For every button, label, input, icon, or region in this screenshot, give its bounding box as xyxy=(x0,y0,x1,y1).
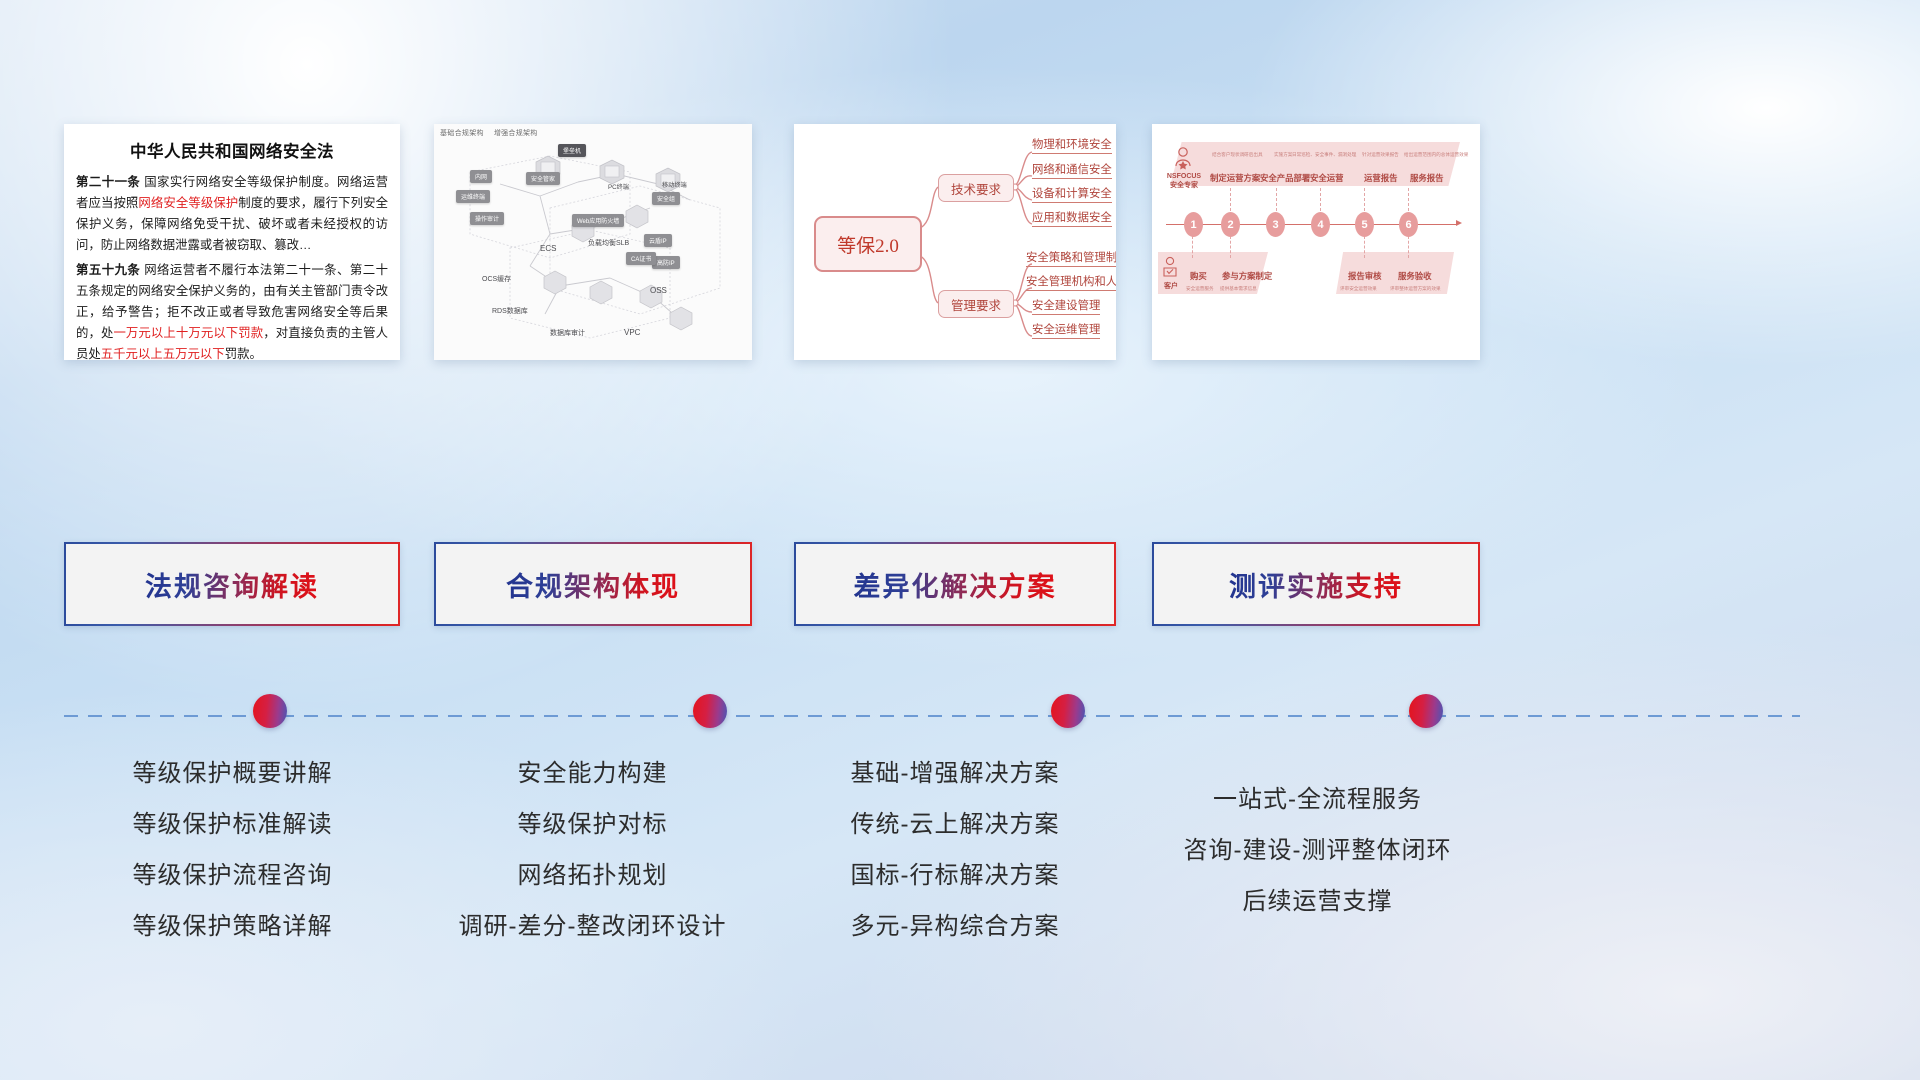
flow-step-6: 6 xyxy=(1399,212,1418,237)
law-document-body: 中华人民共和国网络安全法 第二十一条 国家实行网络安全等级保护制度。网络运营者应… xyxy=(64,124,400,360)
section-title-label-4: 测评实施支持 xyxy=(1229,565,1403,604)
arch-node-security-group: 安全组 xyxy=(652,192,680,205)
architecture-header: 基础合规架构增强合规架构 xyxy=(440,128,548,138)
law-article-59: 第五十九条 网络运营者不履行本法第二十一条、第二十五条规定的网络安全保护义务的，… xyxy=(76,260,388,360)
mindmap-leaf-ops-mgmt: 安全运维管理 xyxy=(1032,321,1100,339)
arch-label-database-audit: 数据库审计 xyxy=(550,328,585,338)
mindmap-leaf-construction-mgmt: 安全建设管理 xyxy=(1032,297,1100,315)
timeline-dot-1[interactable] xyxy=(253,694,287,728)
law-article-21-label: 第二十一条 xyxy=(76,175,140,189)
list-item: 基础-增强解决方案 xyxy=(785,748,1125,799)
flow-top-sub-4: 针对运营效果报告 xyxy=(1362,152,1399,158)
section-title-inner-2: 合规架构体现 xyxy=(436,544,750,624)
card-architecture-diagram[interactable]: 基础合规架构增强合规架构 xyxy=(434,124,752,360)
flow-bottom-title-1: 购买 xyxy=(1190,270,1207,282)
section-title-inner-3: 差异化解决方案 xyxy=(796,544,1114,624)
list-item: 等级保护策略详解 xyxy=(60,901,405,952)
law-article-59-highlight-b: 五千元以上五万元以下 xyxy=(101,347,225,360)
arch-node-anti-ddos-ip: 高防IP xyxy=(652,256,680,269)
section-items-1: 等级保护概要讲解 等级保护标准解读 等级保护流程咨询 等级保护策略详解 xyxy=(60,748,405,952)
timeline-dot-2[interactable] xyxy=(693,694,727,728)
flow-top-title-4: 运营报告 xyxy=(1364,172,1398,184)
section-items-2: 安全能力构建 等级保护对标 网络拓扑规划 调研-差分-整改闭环设计 xyxy=(415,748,770,952)
law-title: 中华人民共和国网络安全法 xyxy=(76,138,388,162)
flow-connector-b4 xyxy=(1408,236,1410,258)
flow-top-title-5: 服务报告 xyxy=(1410,172,1444,184)
mindmap-branch-technical: 技术要求 xyxy=(938,174,1014,202)
arch-label-ecs: ECS xyxy=(540,244,556,253)
flow-step-2: 2 xyxy=(1221,212,1240,237)
timeline xyxy=(0,694,1920,738)
list-item: 调研-差分-整改闭环设计 xyxy=(415,901,770,952)
arch-label-rds-database: RDS数据库 xyxy=(492,306,528,316)
list-item: 一站式-全流程服务 xyxy=(1140,774,1495,825)
timeline-dashed-line xyxy=(64,715,1800,717)
arch-node-bastion: 堡垒机 xyxy=(558,144,586,157)
flow-step-3: 3 xyxy=(1266,212,1285,237)
flow-step-5: 5 xyxy=(1355,212,1374,237)
mindmap-leaf-device-compute: 设备和计算安全 xyxy=(1032,185,1112,203)
card-mindmap[interactable]: 等保2.0 技术要求 管理要求 物理和环境安全 网络和通信安全 设备和计算安全 … xyxy=(794,124,1116,360)
list-item: 安全能力构建 xyxy=(415,748,770,799)
flow-bottom-sub-1: 安全运营服务 xyxy=(1186,286,1214,292)
section-title-box-3[interactable]: 差异化解决方案 xyxy=(794,542,1116,626)
arch-label-mobile-terminal: 移动终端 xyxy=(662,180,687,189)
law-article-59-text-c: 罚款。 xyxy=(225,347,262,360)
timeline-dot-3[interactable] xyxy=(1051,694,1085,728)
list-item: 传统-云上解决方案 xyxy=(785,799,1125,850)
arch-label-slb: 负载均衡SLB xyxy=(588,238,629,248)
arch-node-operation-audit: 操作审计 xyxy=(470,212,504,225)
architecture-graphic: 堡垒机 安全管家 内网 运维终端 操作审计 Web应用防火墙 安全组 云盾IP … xyxy=(440,138,746,354)
mindmap-leaf-org-personnel: 安全管理机构和人员 xyxy=(1026,273,1116,291)
flow-brand-sub: 安全专家 xyxy=(1170,182,1198,189)
flow-customer-label: 客户 xyxy=(1160,282,1182,291)
card-law-document[interactable]: 中华人民共和国网络安全法 第二十一条 国家实行网络安全等级保护制度。网络运营者应… xyxy=(64,124,400,360)
customer-person-icon xyxy=(1162,256,1178,280)
arch-label-vpc: VPC xyxy=(624,328,640,337)
list-item: 等级保护流程咨询 xyxy=(60,850,405,901)
arch-node-intranet: 内网 xyxy=(470,170,492,183)
list-item: 国标-行标解决方案 xyxy=(785,850,1125,901)
mindmap-leaf-app-data: 应用和数据安全 xyxy=(1032,209,1112,227)
section-items-row: 等级保护概要讲解 等级保护标准解读 等级保护流程咨询 等级保护策略详解 安全能力… xyxy=(0,748,1920,968)
section-title-box-1[interactable]: 法规咨询解读 xyxy=(64,542,400,626)
list-item: 等级保护对标 xyxy=(415,799,770,850)
flow-top-title-3: 安全运营 xyxy=(1310,172,1344,184)
list-item: 多元-异构综合方案 xyxy=(785,901,1125,952)
service-flow-canvas: NSFOCUS 安全专家 结合客户现状调研后出具 制定运营方案 实施方案 安全产… xyxy=(1152,124,1480,360)
flow-top-sub-3: 日常巡检、安全事件、漏洞处理 xyxy=(1292,152,1356,158)
arch-node-cloud-shield-ip: 云盾IP xyxy=(644,234,672,247)
mindmap-core-node: 等保2.0 xyxy=(814,216,922,272)
preview-cards-row: 中华人民共和国网络安全法 第二十一条 国家实行网络安全等级保护制度。网络运营者应… xyxy=(0,124,1920,364)
flow-bottom-sub-2: 提供基本需求信息 xyxy=(1220,286,1257,292)
law-article-21: 第二十一条 国家实行网络安全等级保护制度。网络运营者应当按照网络安全等级保护制度… xyxy=(76,172,388,256)
list-item: 等级保护概要讲解 xyxy=(60,748,405,799)
section-title-label-1: 法规咨询解读 xyxy=(145,565,319,604)
list-item: 咨询-建设-测评整体闭环 xyxy=(1140,825,1495,876)
arch-label-pc-terminal: PC终端 xyxy=(608,182,629,191)
arch-label-ocs-cache: OCS缓存 xyxy=(482,274,511,284)
flow-top-sub-2: 实施方案 xyxy=(1274,152,1292,158)
section-title-box-4[interactable]: 测评实施支持 xyxy=(1152,542,1480,626)
arch-label-oss: OSS xyxy=(650,286,667,295)
list-item: 网络拓扑规划 xyxy=(415,850,770,901)
arch-node-ops-terminal: 运维终端 xyxy=(456,190,490,203)
mindmap-branch-management: 管理要求 xyxy=(938,290,1014,318)
section-title-inner-1: 法规咨询解读 xyxy=(66,544,398,624)
section-items-4: 一站式-全流程服务 咨询-建设-测评整体闭环 后续运营支撑 xyxy=(1140,774,1495,927)
section-items-3: 基础-增强解决方案 传统-云上解决方案 国标-行标解决方案 多元-异构综合方案 xyxy=(785,748,1125,952)
flow-top-title-1: 制定运营方案 xyxy=(1210,172,1260,184)
timeline-dot-4[interactable] xyxy=(1409,694,1443,728)
arch-node-ca-certificate: CA证书 xyxy=(626,252,656,265)
flow-brand-name: NSFOCUS xyxy=(1167,173,1201,180)
flow-connector-b3 xyxy=(1364,236,1366,258)
flow-top-sub-1: 结合客户现状调研后出具 xyxy=(1212,152,1263,158)
section-title-label-3: 差异化解决方案 xyxy=(854,565,1057,604)
list-item: 后续运营支撑 xyxy=(1140,876,1495,927)
flow-brand: NSFOCUS 安全专家 xyxy=(1166,172,1202,190)
law-article-21-highlight: 网络安全等级保护 xyxy=(138,196,238,210)
card-service-flow[interactable]: NSFOCUS 安全专家 结合客户现状调研后出具 制定运营方案 实施方案 安全产… xyxy=(1152,124,1480,360)
infographic-root: 中华人民共和国网络安全法 第二十一条 国家实行网络安全等级保护制度。网络运营者应… xyxy=(0,0,1920,1080)
flow-bottom-sub-3: 评审安全运营效果 xyxy=(1340,286,1377,292)
flow-step-1: 1 xyxy=(1184,212,1203,237)
flow-bottom-sub-4: 评审整体运营方案的效果 xyxy=(1390,286,1441,292)
mindmap-leaf-network-comm: 网络和通信安全 xyxy=(1032,161,1112,179)
flow-bottom-title-4: 服务验收 xyxy=(1398,270,1432,282)
section-title-box-2[interactable]: 合规架构体现 xyxy=(434,542,752,626)
section-titles-row: 法规咨询解读 合规架构体现 差异化解决方案 测评实施支持 xyxy=(0,542,1920,652)
flow-bottom-title-3: 报告审核 xyxy=(1348,270,1382,282)
architecture-canvas: 基础合规架构增强合规架构 xyxy=(434,124,752,360)
section-title-label-2: 合规架构体现 xyxy=(506,565,680,604)
architecture-header-left: 基础合规架构 xyxy=(440,130,484,137)
flow-step-4: 4 xyxy=(1311,212,1330,237)
mindmap-leaf-policy-system: 安全策略和管理制度 xyxy=(1026,249,1116,267)
flow-top-title-2: 安全产品部署 xyxy=(1260,172,1310,184)
law-article-59-highlight-a: 一万元以上十万元以下罚款 xyxy=(113,326,263,340)
flow-top-sub-5: 给出运营范围内的总体运营效果 xyxy=(1404,152,1468,158)
architecture-header-right: 增强合规架构 xyxy=(494,130,538,137)
arch-node-security-butler: 安全管家 xyxy=(526,172,560,185)
flow-connector-b1 xyxy=(1192,236,1194,258)
list-item: 等级保护标准解读 xyxy=(60,799,405,850)
arch-node-waf: Web应用防火墙 xyxy=(572,214,624,227)
flow-connector-b2 xyxy=(1230,236,1232,258)
mindmap-leaf-physical-env: 物理和环境安全 xyxy=(1032,136,1112,154)
mindmap-canvas: 等保2.0 技术要求 管理要求 物理和环境安全 网络和通信安全 设备和计算安全 … xyxy=(794,124,1116,360)
flow-axis-arrow-icon xyxy=(1456,220,1462,226)
flow-bottom-title-2: 参与方案制定 xyxy=(1222,270,1272,282)
law-article-59-label: 第五十九条 xyxy=(76,263,140,277)
section-title-inner-4: 测评实施支持 xyxy=(1154,544,1478,624)
